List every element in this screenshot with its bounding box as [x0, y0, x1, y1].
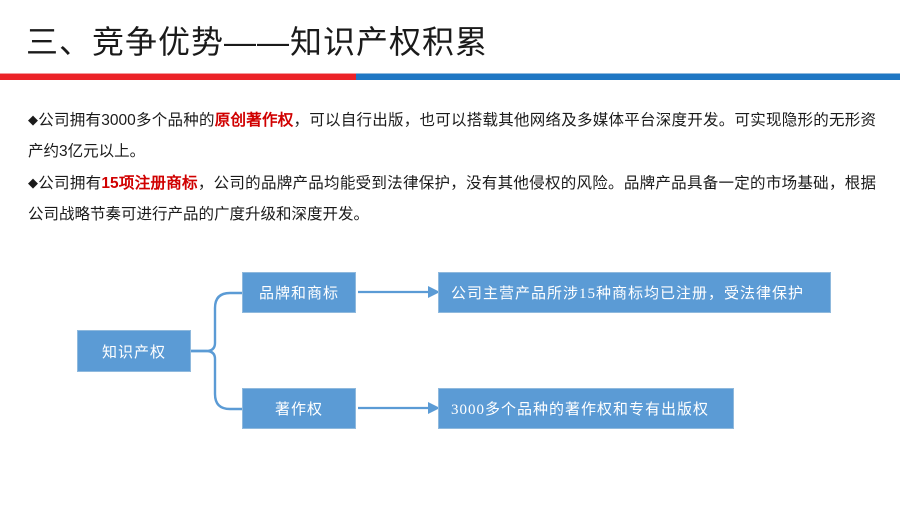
paragraph2-text-before: 公司拥有 — [38, 175, 101, 192]
diagram-node-copyright-description[interactable]: 3000多个品种的著作权和专有出版权 — [438, 388, 734, 429]
body-text: ◆公司拥有3000多个品种的原创著作权，可以自行出版，也可以搭载其他网络及多媒体… — [28, 104, 876, 230]
title-divider — [0, 73, 900, 79]
diagram-node-copyright[interactable]: 著作权 — [242, 388, 356, 429]
diagram-node-root[interactable]: 知识产权 — [77, 330, 191, 372]
page-title: 三、竞争优势——知识产权积累 — [26, 22, 488, 62]
diagram-node-brand-trademark[interactable]: 品牌和商标 — [242, 272, 356, 313]
paragraph1-text-before: 公司拥有3000多个品种的 — [38, 112, 214, 129]
bullet-icon-2: ◆ — [28, 175, 38, 190]
bracket-lower-arm — [191, 351, 242, 409]
divider-blue-segment — [356, 73, 900, 80]
bullet-icon-1: ◆ — [28, 112, 38, 127]
paragraph1-highlight: 原创著作权 — [215, 112, 294, 129]
paragraph-copyright: ◆公司拥有3000多个品种的原创著作权，可以自行出版，也可以搭载其他网络及多媒体… — [28, 104, 876, 167]
paragraph-trademark: ◆公司拥有15项注册商标，公司的品牌产品均能受到法律保护，没有其他侵权的风险。品… — [28, 167, 876, 230]
paragraph2-highlight: 15项注册商标 — [101, 175, 197, 192]
arrow-brand-to-description — [358, 286, 440, 298]
divider-red-segment — [0, 73, 356, 80]
arrow-copyright-to-description — [358, 402, 440, 414]
bracket-upper-arm — [191, 293, 242, 351]
diagram-node-brand-description[interactable]: 公司主营产品所涉15种商标均已注册，受法律保护 — [438, 272, 831, 313]
